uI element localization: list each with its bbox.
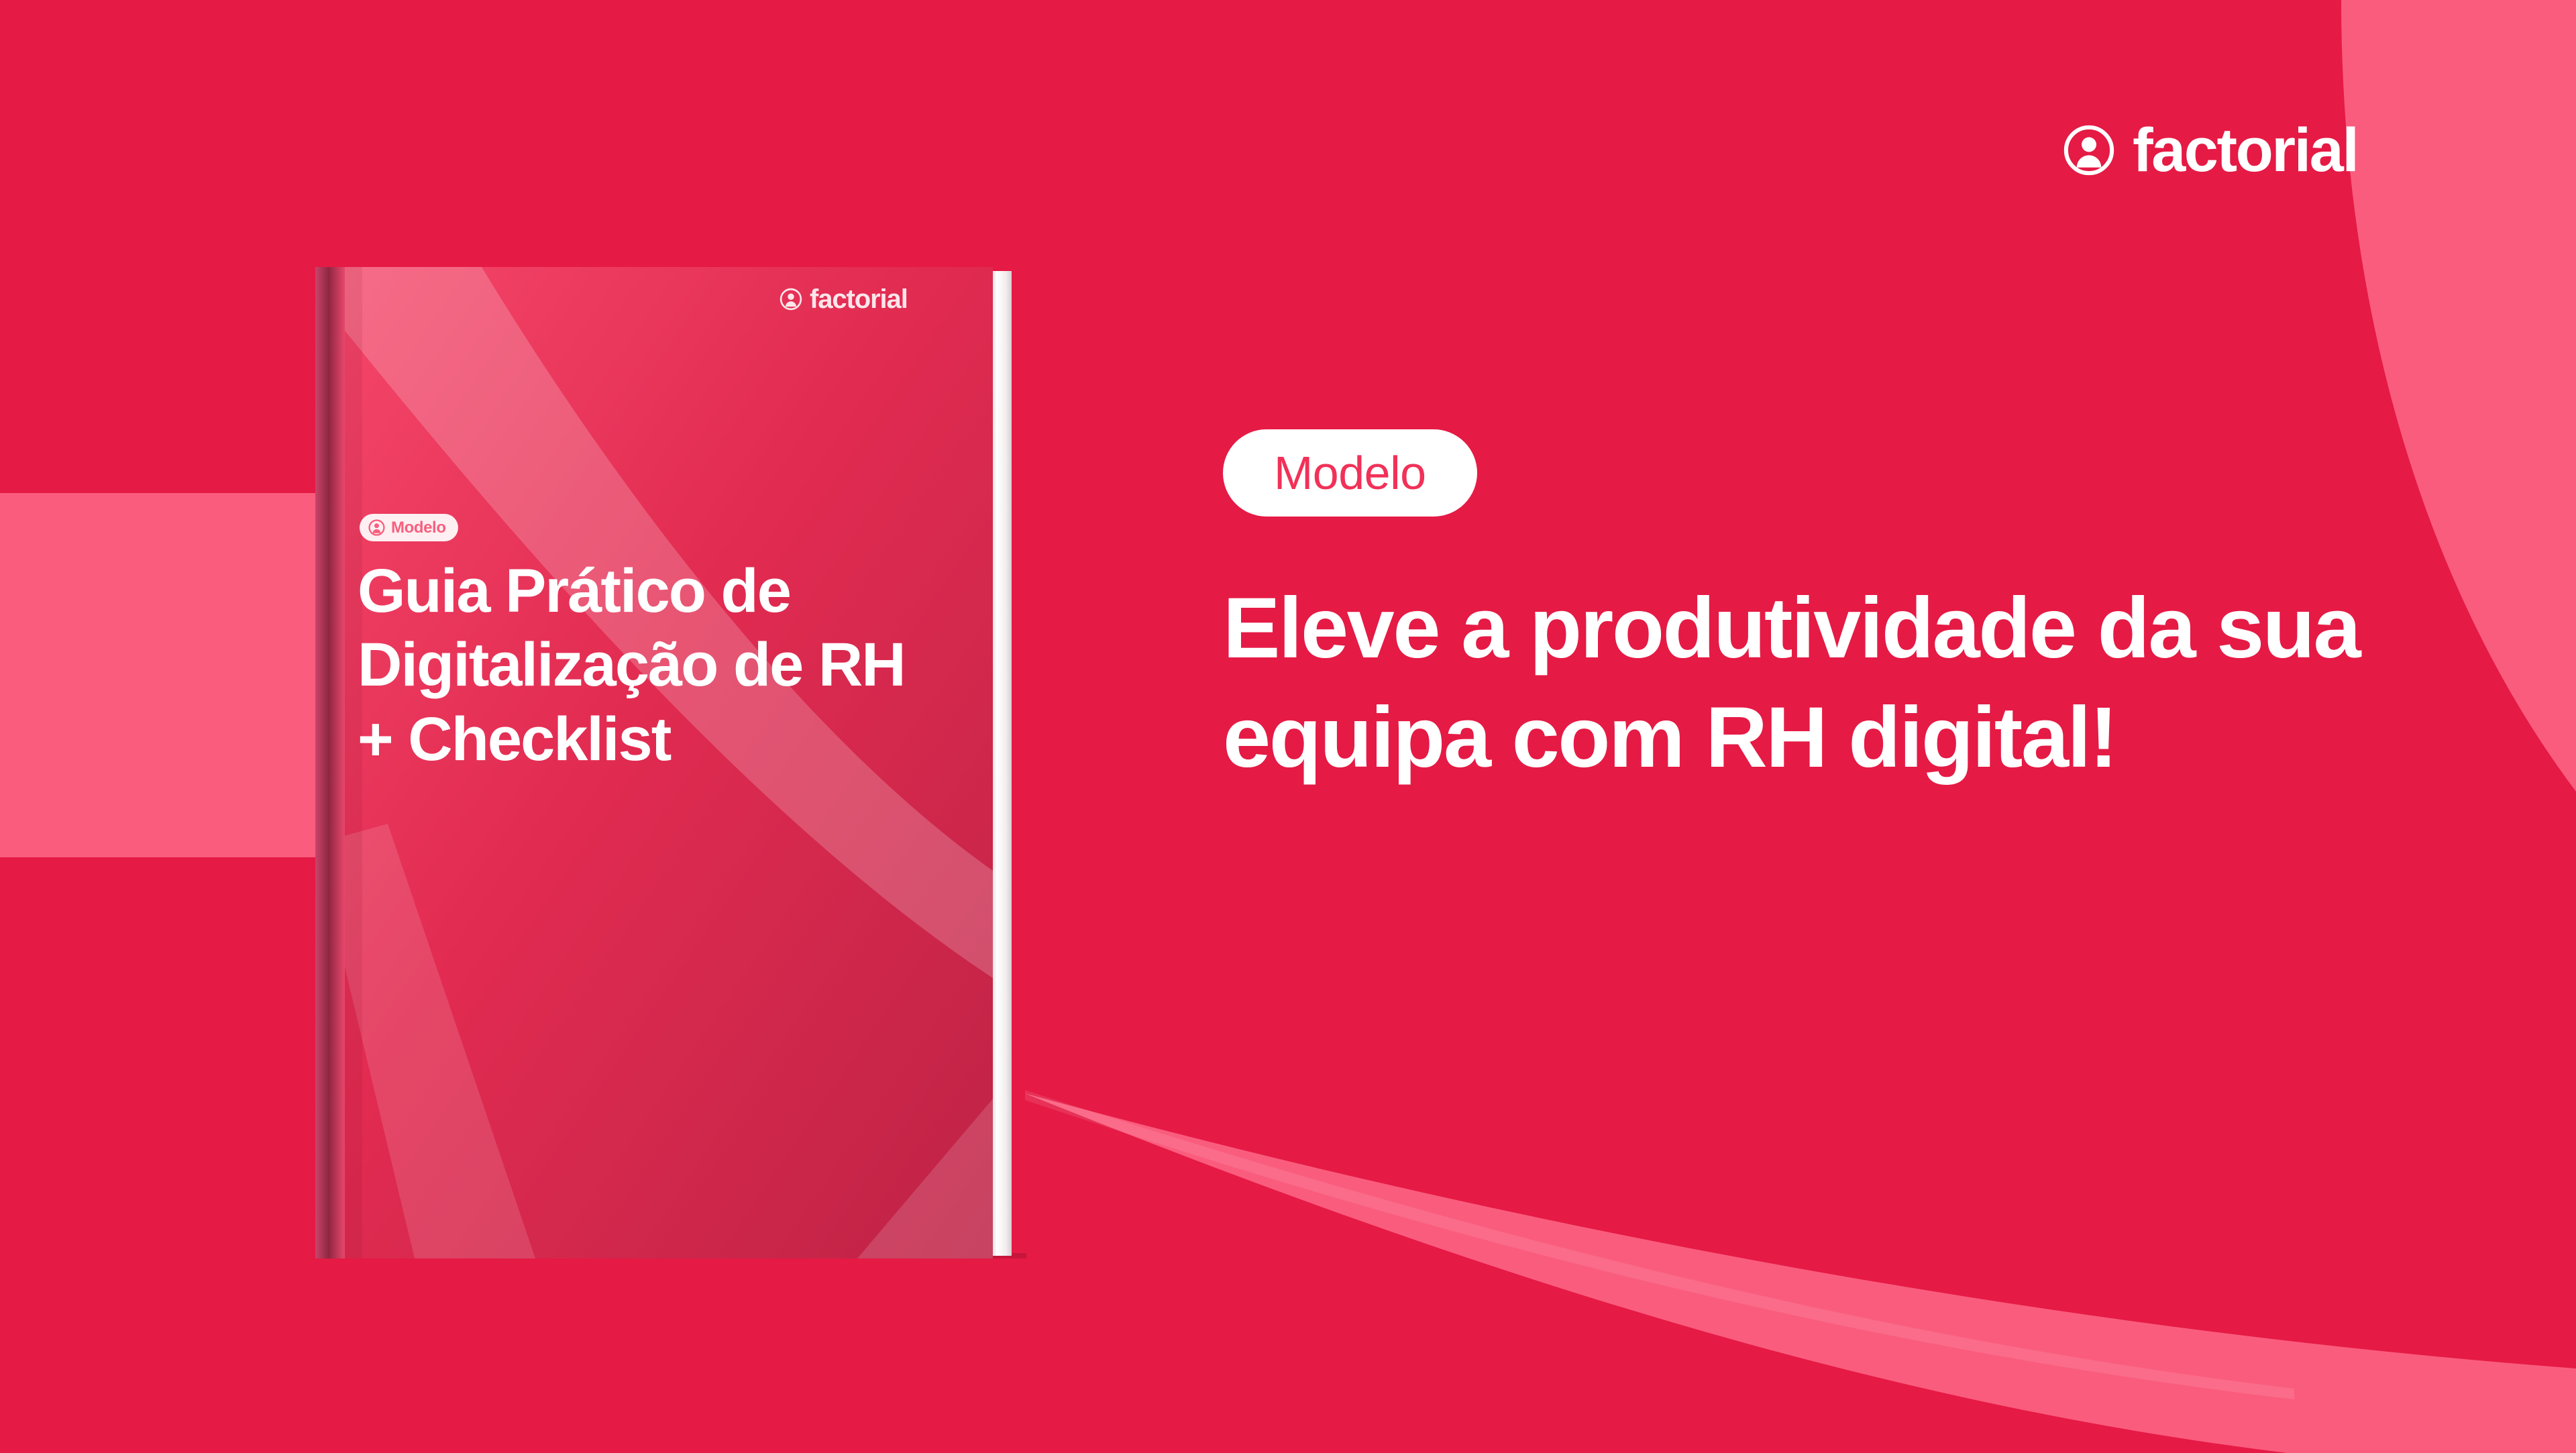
- book-brand-logo: factorial: [780, 286, 908, 313]
- book-mockup: factorial Modelo Guia Prático de Digital…: [280, 267, 1045, 1258]
- brand-logo: factorial: [2063, 119, 2357, 181]
- promo-badge: Modelo: [1223, 429, 1477, 517]
- factorial-person-circle-icon: [2063, 124, 2115, 176]
- book-brand-wordmark: factorial: [810, 286, 908, 313]
- promo-headline: Eleve a produtividade da sua equipa com …: [1223, 574, 2471, 792]
- factorial-person-circle-icon: [780, 288, 802, 311]
- brand-wordmark: factorial: [2133, 119, 2357, 181]
- promo-content: Modelo Eleve a produtividade da sua equi…: [1223, 429, 2484, 792]
- book-badge: Modelo: [360, 514, 458, 541]
- book-badge-label: Modelo: [391, 520, 446, 536]
- book-title: Guia Prático de Digitalização de RH + Ch…: [358, 554, 908, 776]
- factorial-person-circle-icon: [368, 519, 385, 536]
- promo-badge-label: Modelo: [1274, 449, 1426, 496]
